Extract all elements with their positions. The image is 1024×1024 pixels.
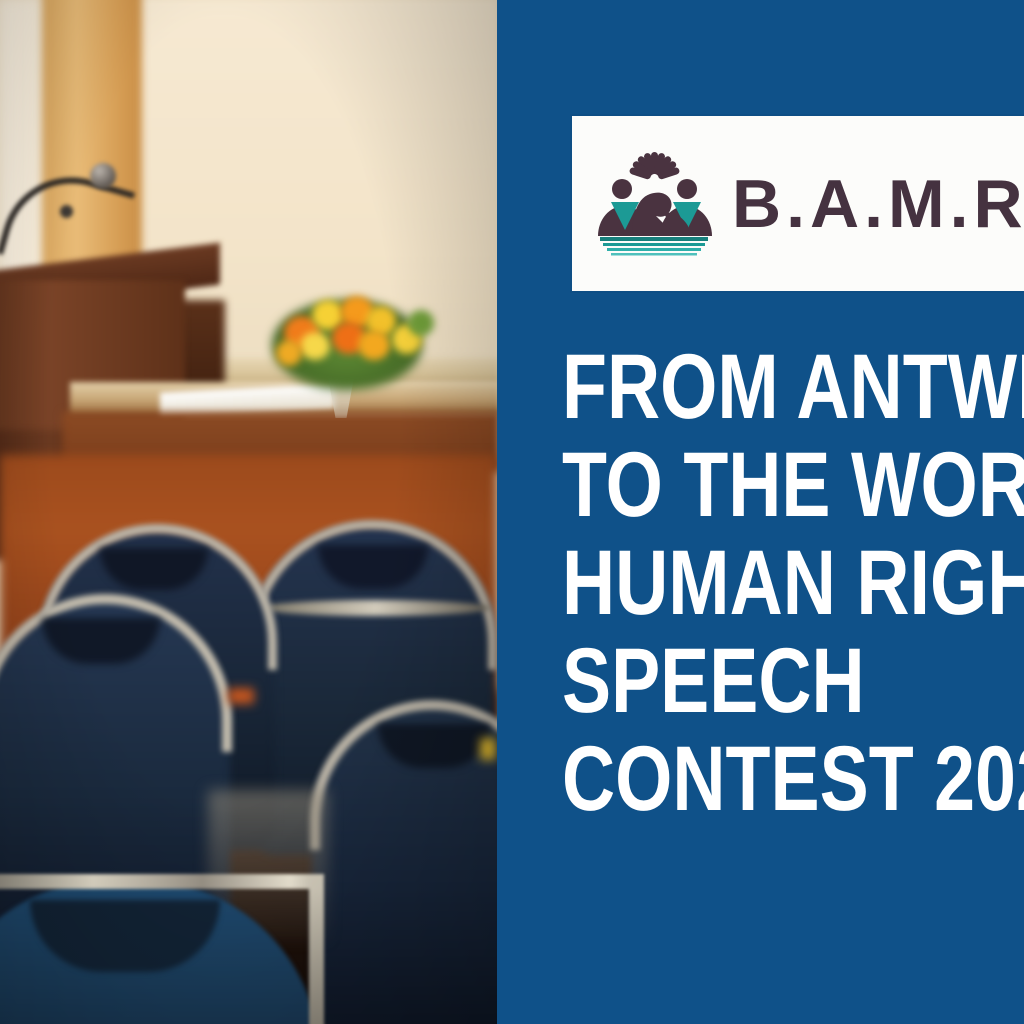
flower-blossom — [300, 332, 330, 360]
microphone-head — [90, 163, 116, 189]
flower-blossom — [358, 330, 390, 360]
highlight-speck — [228, 688, 254, 704]
headline-line-4: SPEECH — [562, 632, 978, 730]
highlight-speck — [480, 738, 496, 760]
headline-block: FROM ANTWERP TO THE WORLD HUMAN RIGHTS S… — [562, 338, 1024, 828]
bamro-sunrise-people-logo-icon — [594, 148, 714, 260]
sun-rays-icon — [629, 152, 681, 180]
headline-line-1: FROM ANTWERP — [562, 338, 978, 436]
water-lines-icon — [600, 237, 708, 256]
poster-canvas: B.A.M.R.O FROM ANTWERP TO THE WORLD HUMA… — [0, 0, 1024, 1024]
microphone-knob — [60, 205, 73, 218]
bamro-wordmark: B.A.M.R.O — [732, 170, 1024, 238]
flower-blossom — [408, 310, 434, 336]
bamro-logo-card: B.A.M.R.O — [570, 114, 1024, 293]
headline-line-3: HUMAN RIGHTS — [562, 534, 978, 632]
chair-back-right-rail — [262, 600, 490, 616]
headline-line-5: CONTEST 2025 — [562, 730, 978, 828]
headline-line-2: TO THE WORLD — [562, 436, 978, 534]
flower-blossom — [276, 340, 302, 366]
conference-hall-photo — [0, 0, 497, 1024]
